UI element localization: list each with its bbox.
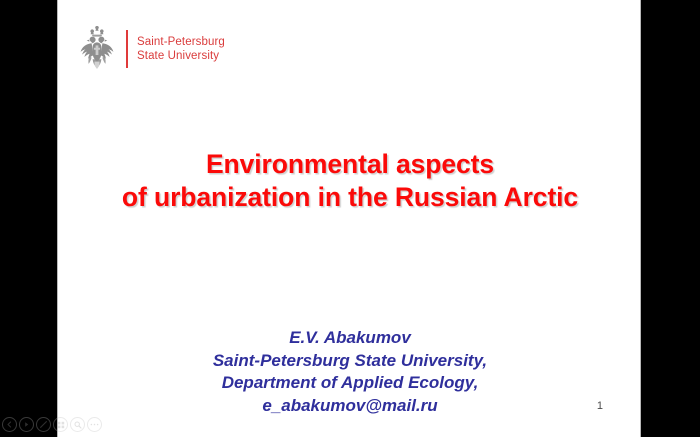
author-department: Department of Applied Ecology,	[58, 372, 641, 395]
author-affiliation-block: E.V. Abakumov Saint-Petersburg State Uni…	[58, 327, 641, 417]
logo-divider	[126, 30, 128, 68]
play-icon	[23, 421, 30, 428]
slide-viewer: Saint-Petersburg State University Enviro…	[0, 0, 700, 437]
page-number: 1	[597, 399, 603, 413]
author-email: e_abakumov@mail.ru	[58, 395, 641, 418]
university-name-line2: State University	[137, 49, 225, 63]
slide-title-line1: Environmental aspects	[58, 148, 641, 181]
grid-icon	[57, 421, 65, 429]
chevron-left-icon	[6, 421, 13, 428]
university-name: Saint-Petersburg State University	[137, 35, 225, 63]
double-headed-eagle-emblem-icon	[79, 26, 115, 72]
slide-title-line2: of urbanization in the Russian Arctic	[58, 181, 641, 214]
more-options-button[interactable]	[87, 417, 102, 432]
pen-annotate-button[interactable]	[36, 417, 51, 432]
university-name-line1: Saint-Petersburg	[137, 35, 225, 49]
letterbox-right	[641, 0, 700, 437]
magnifier-icon	[74, 421, 82, 429]
university-logo: Saint-Petersburg State University	[79, 25, 225, 73]
playback-controls[interactable]	[2, 417, 102, 432]
author-name: E.V. Abakumov	[58, 327, 641, 350]
pen-icon	[39, 420, 48, 429]
letterbox-left	[0, 0, 57, 437]
previous-slide-button[interactable]	[2, 417, 17, 432]
presentation-slide[interactable]: Saint-Petersburg State University Enviro…	[57, 0, 641, 437]
next-slide-button[interactable]	[19, 417, 34, 432]
author-university: Saint-Petersburg State University,	[58, 350, 641, 373]
zoom-button[interactable]	[70, 417, 85, 432]
ellipsis-icon	[90, 423, 99, 426]
all-slides-button[interactable]	[53, 417, 68, 432]
slide-title: Environmental aspects of urbanization in…	[58, 148, 641, 214]
